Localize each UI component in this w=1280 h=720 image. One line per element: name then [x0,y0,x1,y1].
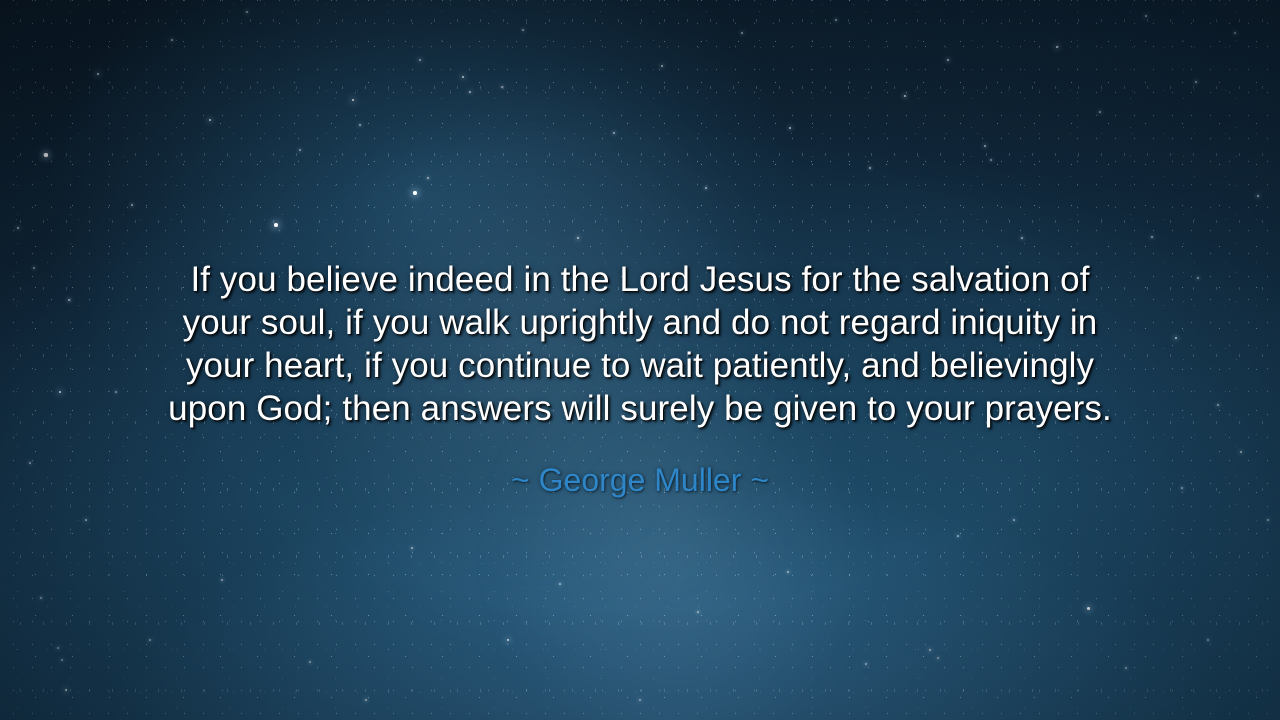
quote-text: If you believe indeed in the Lord Jesus … [70,258,1210,430]
quote-attribution: ~ George Muller ~ [70,430,1210,499]
quote-image-canvas: If you believe indeed in the Lord Jesus … [0,0,1280,720]
quote-block: If you believe indeed in the Lord Jesus … [0,258,1280,499]
